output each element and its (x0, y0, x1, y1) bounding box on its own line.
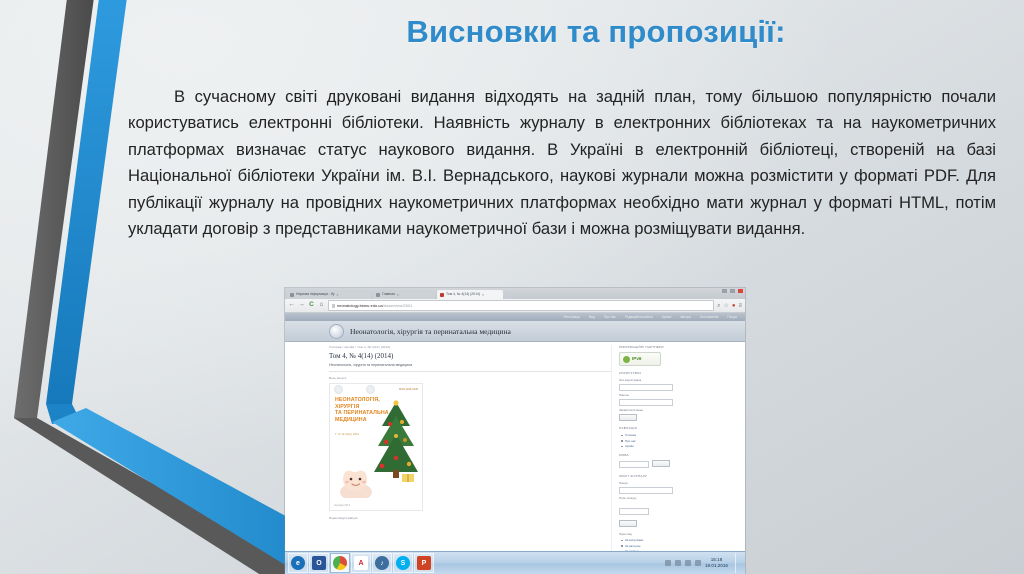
journal-seal-logo-icon (329, 324, 344, 339)
maximize-icon[interactable] (730, 289, 735, 293)
topnav-item[interactable]: Архіви (662, 315, 672, 319)
tab-close-icon[interactable]: × (337, 293, 339, 297)
sidebar-content-heading: ЗМІСТ ЖУРНАЛУ (619, 474, 737, 478)
tab-title: Том 4, № 4(14) (2014) (446, 292, 480, 297)
adobe-reader-icon: A (354, 556, 368, 570)
language-select[interactable] (619, 461, 649, 468)
browser-toolbar: ← → C ⌂ neonatology.bsmu.edu.ua/issue/vi… (285, 299, 745, 313)
site-top-navigation: Реєстрація Вхід Про нас Редакційна колег… (285, 313, 745, 321)
new-tab-button[interactable] (505, 292, 513, 299)
tab-pdf-favicon-icon (440, 293, 444, 297)
system-tray: 15:18 19.01.2016 (665, 553, 745, 573)
search-scope-select[interactable] (619, 508, 649, 515)
ipv6-dot-icon (623, 356, 630, 363)
browse-item[interactable]: За автором (625, 544, 737, 548)
microsoft-powerpoint-icon: P (417, 556, 431, 570)
url-path: /issue/view/2501 (383, 303, 413, 308)
topnav-item[interactable]: Вхід (589, 315, 595, 319)
christmas-tree-illustration (372, 400, 420, 484)
breadcrumb: Головна / Архіви / Том 4, № 4(14) (2014) (329, 345, 611, 349)
slide-body-area: В сучасному світі друковані видання відх… (128, 84, 996, 242)
taskbar-app-buttons: e O A ♪ S P (285, 554, 434, 572)
tab-close-icon[interactable]: × (397, 293, 399, 297)
issue-title: Том 4, № 4(14) (2014) (329, 352, 611, 360)
extension-icon[interactable]: ● (732, 303, 736, 309)
close-icon[interactable] (738, 289, 743, 293)
forward-icon[interactable]: → (298, 302, 305, 309)
microsoft-outlook-icon: O (312, 556, 326, 570)
login-button[interactable] (619, 414, 637, 421)
bookmark-star-icon[interactable]: ☆ (723, 303, 728, 309)
cover-header: ISSN 2226-1230 (330, 384, 422, 395)
sidebar-browse-block: Перегляд За випусками За автором За назв… (619, 532, 737, 552)
topnav-item[interactable]: Про нас (604, 315, 616, 319)
tab-favicon-icon (290, 293, 294, 297)
cover-emblem-icon (366, 385, 375, 394)
topnav-item[interactable]: Автори (680, 315, 691, 319)
page-main-column: Головна / Архіви / Том 4, № 4(14) (2014)… (293, 345, 611, 552)
url-domain: neonatology.bsmu.edu.ua (337, 303, 383, 308)
sidebar-language-heading: МОВА (619, 453, 737, 457)
search-scope-label: Поле пошуку (619, 496, 737, 500)
skype-icon: S (396, 556, 410, 570)
address-bar-url: neonatology.bsmu.edu.ua/issue/view/2501 (337, 303, 412, 309)
browser-tab-2[interactable]: Главная × (373, 290, 435, 299)
page-sidebar: ІНФОРМАЦІЙНІ ПАРТНЕРИ IPv6 КОРИСТУВАЧ Ім… (611, 345, 737, 552)
sidebar-user-block: КОРИСТУВАЧ Ім'я користувача Пароль Запам… (619, 371, 737, 421)
tray-icon[interactable] (695, 560, 701, 566)
language-submit-button[interactable] (652, 460, 670, 467)
reload-icon[interactable]: C (308, 302, 315, 309)
tray-volume-icon[interactable] (685, 560, 691, 566)
search-button[interactable] (619, 520, 637, 527)
page-title: Висновки та пропозиції: (190, 14, 1002, 50)
baby-photo-illustration (336, 458, 376, 498)
username-label: Ім'я користувача (619, 378, 737, 382)
taskbar-app-google-chrome[interactable] (330, 553, 350, 573)
taskbar-app-skype[interactable]: S (393, 553, 413, 573)
tab-close-icon[interactable]: × (482, 293, 484, 297)
address-bar[interactable]: neonatology.bsmu.edu.ua/issue/view/2501 (328, 300, 714, 311)
sidebar-search-block: ЗМІСТ ЖУРНАЛУ Пошук Поле пошуку (619, 474, 737, 527)
tab-title: Наукова інформація - бу (296, 292, 335, 297)
body-paragraph: В сучасному світі друковані видання відх… (128, 84, 996, 242)
window-controls (722, 289, 743, 293)
sidebar-user-heading: КОРИСТУВАЧ (619, 371, 737, 375)
site-title: Неонатологія, хірургія та перинатальна м… (350, 327, 511, 336)
ipv6-ready-badge[interactable]: IPv6 (619, 352, 661, 366)
language-selector-row (619, 460, 737, 469)
cover-note-link[interactable]: Переглянути випуск (329, 516, 611, 520)
tab-favicon-icon (376, 293, 380, 297)
cover-emblem-icon (334, 385, 343, 394)
search-input[interactable] (619, 487, 673, 494)
show-desktop-button[interactable] (735, 553, 741, 573)
tray-icon[interactable] (665, 560, 671, 566)
clock-date: 19.01.2016 (705, 563, 728, 569)
browser-viewport: Реєстрація Вхід Про нас Редакційна колег… (285, 313, 745, 552)
sidebar-partner-heading: ІНФОРМАЦІЙНІ ПАРТНЕРИ (619, 345, 737, 349)
password-label: Пароль (619, 393, 737, 397)
tray-network-icon[interactable] (675, 560, 681, 566)
remember-me-label[interactable]: Запам'ятати мене (619, 408, 737, 412)
cover-issn: ISSN 2226-1230 (399, 388, 418, 391)
page-info-icon (332, 304, 335, 308)
windows-taskbar: e O A ♪ S P (285, 551, 745, 574)
site-header: Неонатологія, хірургія та перинатальна м… (285, 321, 745, 342)
search-label: Пошук (619, 481, 737, 485)
slide-title-area: Висновки та пропозиції: (190, 14, 1002, 50)
topnav-item[interactable]: Реєстрація (564, 315, 580, 319)
search-icon[interactable]: ⌕ (717, 303, 720, 309)
minimize-icon[interactable] (722, 289, 727, 293)
presentation-slide: Висновки та пропозиції: В сучасному світ… (0, 0, 1024, 574)
media-player-icon: ♪ (375, 556, 389, 570)
taskbar-app-internet-explorer[interactable]: e (288, 553, 308, 573)
browse-heading: Перегляд (619, 532, 737, 536)
issue-subtitle: Неонатологія, хірургія та перинатальна м… (329, 363, 611, 367)
browser-tab-1[interactable]: Наукова інформація - бу × (287, 290, 371, 299)
menu-icon[interactable]: ≡ (738, 303, 742, 309)
topnav-item[interactable]: Редакційна колегія (625, 315, 653, 319)
tab-title: Главная (382, 292, 395, 297)
google-chrome-icon (333, 556, 347, 570)
sidebar-nav-item[interactable]: Архіви (625, 444, 737, 448)
taskbar-clock[interactable]: 15:18 19.01.2016 (705, 557, 731, 569)
page-body: Головна / Архіви / Том 4, № 4(14) (2014)… (285, 342, 745, 552)
browser-tab-3-active[interactable]: Том 4, № 4(14) (2014) × (437, 290, 503, 299)
divider (329, 371, 611, 372)
sidebar-nav-item[interactable]: Головна (625, 433, 737, 437)
browser-tab-strip: Наукова інформація - бу × Главная × Том … (285, 288, 745, 299)
ipv6-label: IPv6 (632, 357, 641, 362)
cover-footer: Чернівці 2014 (334, 504, 350, 507)
taskbar-app-adobe-reader[interactable]: A (351, 553, 371, 573)
browse-item[interactable]: За випусками (625, 538, 737, 542)
sidebar-language-block: МОВА (619, 453, 737, 469)
home-icon[interactable]: ⌂ (318, 302, 325, 309)
internet-explorer-icon: e (291, 556, 305, 570)
section-label: Весь випуск (329, 376, 611, 380)
username-input[interactable] (619, 384, 673, 391)
journal-cover-image[interactable]: ISSN 2226-1230 НЕОНАТОЛОГІЯ, ХІРУРГІЯ ТА… (329, 383, 423, 511)
taskbar-app-microsoft-powerpoint[interactable]: P (414, 553, 434, 573)
toolbar-right-icons: ⌕ ☆ ● ≡ (717, 303, 742, 309)
topnav-item[interactable]: Пошук (727, 315, 737, 319)
back-icon[interactable]: ← (288, 302, 295, 309)
sidebar-nav-block: НАВІГАЦІЯ Головна Про нас Архіви (619, 426, 737, 448)
sidebar-nav-heading: НАВІГАЦІЯ (619, 426, 737, 430)
topnav-item[interactable]: Оголошення (700, 315, 719, 319)
password-input[interactable] (619, 399, 673, 406)
taskbar-app-microsoft-outlook[interactable]: O (309, 553, 329, 573)
sidebar-nav-item[interactable]: Про нас (625, 439, 737, 443)
embedded-browser-screenshot: Наукова інформація - бу × Главная × Том … (285, 288, 745, 574)
cover-subtitle: Т. IV, № 4(14), 2014 (335, 433, 359, 436)
taskbar-app-media-player[interactable]: ♪ (372, 553, 392, 573)
